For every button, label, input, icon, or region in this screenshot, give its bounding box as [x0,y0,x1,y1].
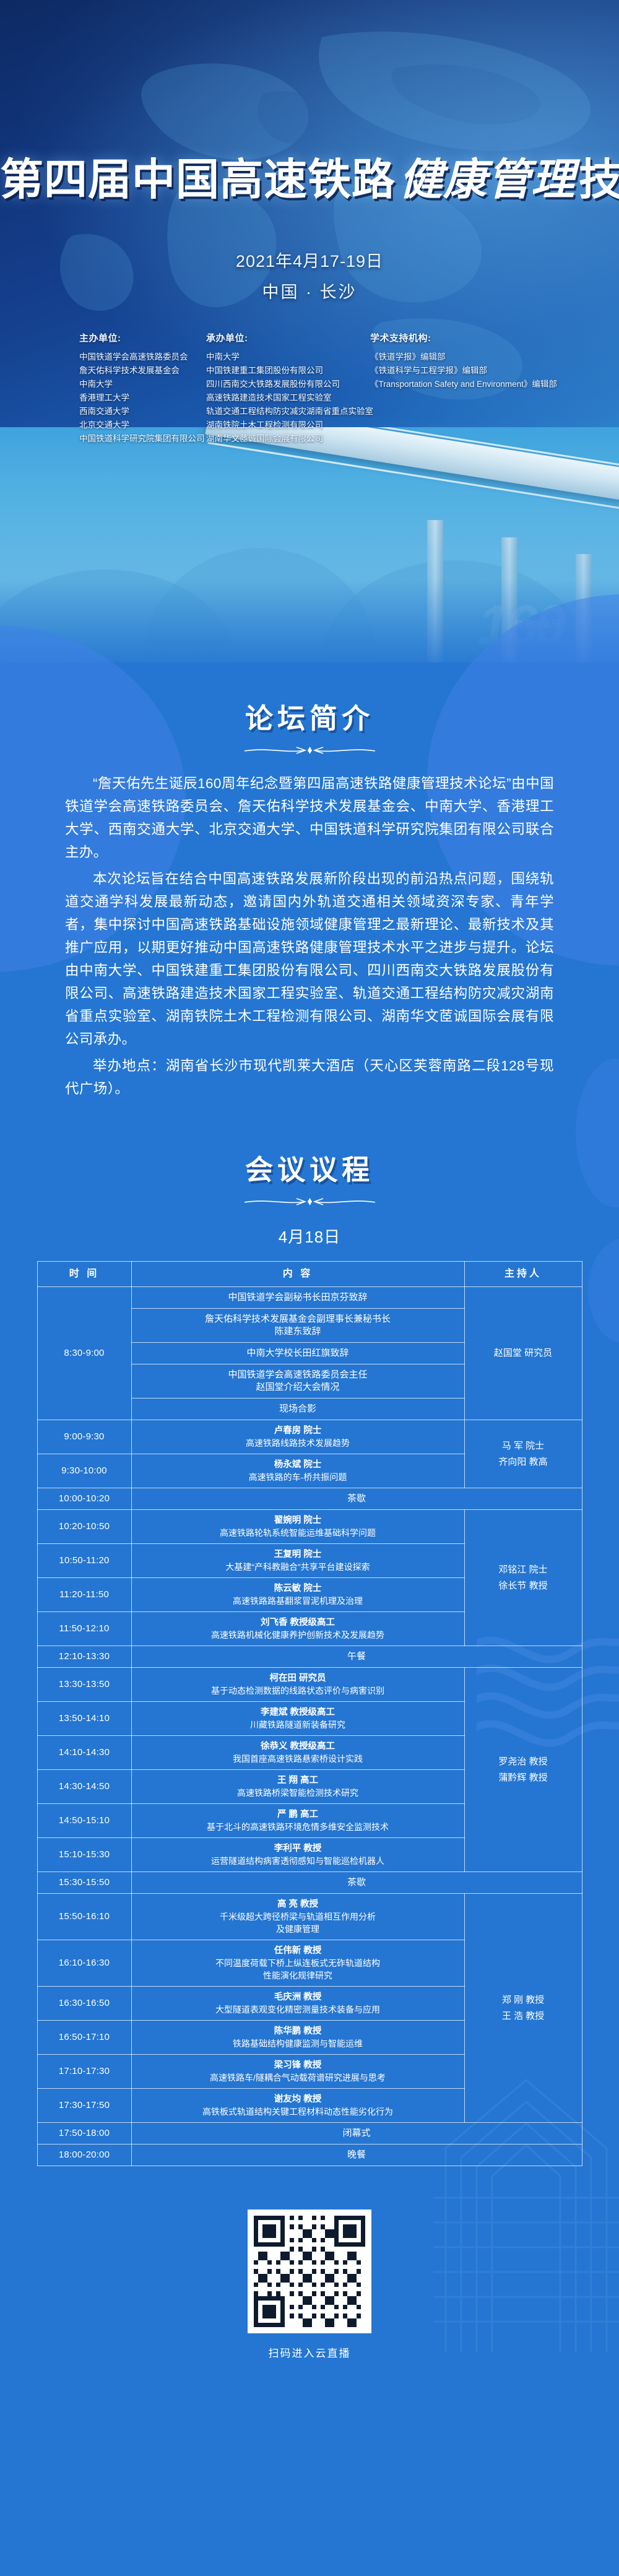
cell-content: 晚餐 [131,2144,582,2166]
organizer-item: 《Transportation Safety and Environment》编… [370,378,557,391]
table-row: 15:50-16:10高 亮 教授千米级超大跨径桥梁与轨道相互作用分析及健康管理… [37,1894,582,1940]
organizer-item: 湖南华文茝诚国际会展有限公司 [206,432,370,446]
poster-body: 论坛简介 “詹天佑先生诞辰160周年纪念暨第四届高速铁路健康管理技术论坛”由中国… [0,662,619,2397]
event-date: 2021年4月17-19日 [0,248,619,272]
intro-text: “詹天佑先生诞辰160周年纪念暨第四届高速铁路健康管理技术论坛”由中国铁道学会高… [65,772,554,1100]
event-city: 中国 · 长沙 [0,279,619,303]
organizer-heading: 承办单位: [206,331,370,344]
talk-title: 高速铁路机械化健康养护创新技术及发展趋势 [136,1629,461,1641]
organizer-item: 轨道交通工程结构防灾减灾湖南省重点实验室 [206,405,370,418]
talk-title: 大基建“产科教融合”共享平台建设探索 [136,1561,461,1573]
talk-title: 运营隧道结构病害透彻感知与智能巡检机器人 [136,1855,461,1867]
cell-content: 李利平 教授运营隧道结构病害透彻感知与智能巡检机器人 [131,1838,464,1872]
ornament-divider [243,745,376,756]
anniversary-caption: 詹天佑诞辰 [514,617,560,630]
page-title: 第四届中国高速铁路健康管理技术论坛 [0,158,619,201]
cell-host: 邓铭江 院士徐长节 教授 [464,1510,582,1646]
organizer-item: 《铁道科学与工程学报》编辑部 [370,364,557,378]
cell-content: 李建斌 教授级高工川藏铁路隧道新装备研究 [131,1702,464,1736]
conference-poster: 160 詹天佑诞辰 第四届中国高速铁路健康管理技术论坛 2021年4月17-19… [0,0,619,2576]
organizer-item: 中南大学 [79,378,206,391]
ornament-divider [243,1196,376,1207]
cell-time: 9:00-9:30 [37,1420,131,1454]
cell-content: 茶歇 [131,1488,582,1510]
cell-time: 13:30-13:50 [37,1668,131,1702]
cell-content: 中南大学校长田红旗致辞 [131,1343,464,1364]
cell-content: 詹天佑科学技术发展基金会副理事长兼秘书长陈建东致辞 [131,1309,464,1343]
background-blob [588,1238,619,1343]
cell-content: 翟婉明 院士高速铁路轮轨系统智能运维基础科学问题 [131,1510,464,1544]
speaker-name: 柯在田 研究员 [136,1672,461,1685]
cell-time: 11:20-11:50 [37,1578,131,1612]
talk-title: 川藏铁路隧道新装备研究 [136,1719,461,1731]
cell-time: 17:30-17:50 [37,2089,131,2123]
table-row: 9:00-9:30卢春房 院士高速铁路线路技术发展趋势马 军 院士齐向阳 教高 [37,1420,582,1454]
speaker-name: 李利平 教授 [136,1842,461,1855]
cell-time: 14:50-15:10 [37,1804,131,1838]
talk-title: 高速铁路桥梁智能检测技术研究 [136,1787,461,1799]
talk-title: 高速铁路路基翻浆冒泥机理及治理 [136,1595,461,1607]
cell-time: 16:30-16:50 [37,1987,131,2021]
organizer-item: 四川西南交大铁路发展股份有限公司 [206,378,370,391]
organizer-heading: 学术支持机构: [370,331,557,344]
organizer-column-academic-support: 学术支持机构: 《铁道学报》编辑部 《铁道科学与工程学报》编辑部 《Transp… [370,331,557,446]
organizer-columns: 主办单位: 中国铁道学会高速铁路委员会 詹天佑科学技术发展基金会 中南大学 香港… [79,331,582,446]
organizer-item: 中国铁道科学研究院集团有限公司 [79,432,206,446]
cell-time: 16:50-17:10 [37,2021,131,2055]
agenda-section-header: 会议议程 [0,1104,619,1207]
organizer-item: 北京交通大学 [79,418,206,432]
intro-section-header: 论坛简介 [0,662,619,756]
speaker-name: 陈云敏 院士 [136,1582,461,1595]
cell-content: 高 亮 教授千米级超大跨径桥梁与轨道相互作用分析及健康管理 [131,1894,464,1940]
intro-paragraph: 举办地点：湖南省长沙市现代凯莱大酒店（天心区芙蓉南路二段128号现代广场）。 [65,1054,554,1100]
talk-title: 基于北斗的高速铁路环境危情多维安全监测技术 [136,1821,461,1833]
section-title-intro: 论坛简介 [245,696,374,736]
cell-content: 刘飞香 教授级高工高速铁路机械化健康养护创新技术及发展趋势 [131,1612,464,1646]
cell-time: 15:30-15:50 [37,1872,131,1894]
organizer-heading: 主办单位: [79,331,206,344]
organizer-item: 湖南铁院土木工程检测有限公司 [206,418,370,432]
organizer-item: 詹天佑科学技术发展基金会 [79,364,206,378]
qr-caption: 扫码进入云直播 [0,2344,619,2360]
table-row: 10:20-10:50翟婉明 院士高速铁路轮轨系统智能运维基础科学问题邓铭江 院… [37,1510,582,1544]
hero-banner: 160 詹天佑诞辰 第四届中国高速铁路健康管理技术论坛 2021年4月17-19… [0,0,619,662]
talk-title: 高速铁路车/隧耦合气动载荷谱研究进展与思考 [136,2071,461,2084]
cell-content: 陈云敏 院士高速铁路路基翻浆冒泥机理及治理 [131,1578,464,1612]
qr-section: 扫码进入云直播 [0,2210,619,2360]
table-row: 10:00-10:20茶歇 [37,1488,582,1510]
intro-paragraph: “詹天佑先生诞辰160周年纪念暨第四届高速铁路健康管理技术论坛”由中国铁道学会高… [65,772,554,864]
agenda-table: 时 间 内 容 主持人 8:30-9:00中国铁道学会副秘书长田京芬致辞赵国堂 … [37,1261,582,2166]
talk-title: 基于动态检测数据的线路状态评价与病害识别 [136,1685,461,1697]
bridge-photo: 160 詹天佑诞辰 [0,427,619,662]
talk-title: 我国首座高速铁路悬索桥设计实践 [136,1753,461,1765]
cell-content: 陈华鹏 教授铁路基础结构健康监测与智能运维 [131,2021,464,2055]
cell-content: 茶歇 [131,1872,582,1894]
title-part-1: 第四届中国高速铁路 [0,155,396,204]
talk-title: 高速铁路轮轨系统智能运维基础科学问题 [136,1527,461,1539]
cell-content: 徐恭义 教授级高工我国首座高速铁路悬索桥设计实践 [131,1736,464,1770]
cell-content: 现场合影 [131,1399,464,1420]
agenda-day-label: 4月18日 [0,1225,619,1247]
cell-content: 梁习锋 教授高速铁路车/隧耦合气动载荷谱研究进展与思考 [131,2055,464,2089]
organizer-item: 中国铁道学会高速铁路委员会 [79,350,206,364]
cell-time: 15:10-15:30 [37,1838,131,1872]
talk-title: 不同温度荷载下桥上纵连板式无砟轨道结构性能演化规律研究 [136,1957,461,1982]
qr-code[interactable] [248,2210,371,2333]
speaker-name: 梁习锋 教授 [136,2059,461,2071]
speaker-name: 谢友均 教授 [136,2093,461,2105]
cell-time: 15:50-16:10 [37,1894,131,1940]
section-title-agenda: 会议议程 [245,1147,374,1187]
speaker-name: 严 鹏 高工 [136,1808,461,1821]
speaker-name: 翟婉明 院士 [136,1514,461,1527]
speaker-name: 李建斌 教授级高工 [136,1706,461,1719]
table-header-row: 时 间 内 容 主持人 [37,1262,582,1287]
speaker-name: 卢春房 院士 [136,1425,461,1437]
table-row: 15:30-15:50茶歇 [37,1872,582,1894]
organizer-item: 香港理工大学 [79,391,206,405]
organizer-item: 中国铁建重工集团股份有限公司 [206,364,370,378]
cell-time: 14:30-14:50 [37,1770,131,1804]
table-row: 17:50-18:00闭幕式 [37,2123,582,2144]
organizer-item: 中南大学 [206,350,370,364]
cell-time: 17:10-17:30 [37,2055,131,2089]
talk-title: 高速铁路线路技术发展趋势 [136,1437,461,1449]
cell-content: 卢春房 院士高速铁路线路技术发展趋势 [131,1420,464,1454]
cell-content: 谢友均 教授高铁板式轨道结构关键工程材料动态性能劣化行为 [131,2089,464,2123]
table-row: 8:30-9:00中国铁道学会副秘书长田京芬致辞赵国堂 研究员 [37,1287,582,1309]
cell-content: 柯在田 研究员基于动态检测数据的线路状态评价与病害识别 [131,1668,464,1702]
column-header-time: 时 间 [37,1262,131,1287]
talk-title: 千米级超大跨径桥梁与轨道相互作用分析及健康管理 [136,1910,461,1935]
organizer-column-host: 主办单位: 中国铁道学会高速铁路委员会 詹天佑科学技术发展基金会 中南大学 香港… [79,331,206,446]
table-row: 12:10-13:30午餐 [37,1646,582,1668]
talk-title: 大型隧道表观变化精密测量技术装备与应用 [136,2003,461,2016]
speaker-name: 刘飞香 教授级高工 [136,1616,461,1629]
cell-time: 17:50-18:00 [37,2123,131,2144]
organizer-column-coorganizer: 承办单位: 中南大学 中国铁建重工集团股份有限公司 四川西南交大铁路发展股份有限… [206,331,370,446]
column-header-host: 主持人 [464,1262,582,1287]
cell-content: 中国铁道学会副秘书长田京芬致辞 [131,1287,464,1309]
table-row: 18:00-20:00晚餐 [37,2144,582,2166]
cell-host: 马 军 院士齐向阳 教高 [464,1420,582,1488]
talk-title: 高铁板式轨道结构关键工程材料动态性能劣化行为 [136,2105,461,2118]
cell-content: 中国铁道学会高速铁路委员会主任赵国堂介绍大会情况 [131,1364,464,1399]
cell-time: 10:50-11:20 [37,1544,131,1578]
cell-content: 王 翔 高工高速铁路桥梁智能检测技术研究 [131,1770,464,1804]
cell-content: 杨永斌 院士高速铁路的车-桥共振问题 [131,1454,464,1488]
cell-time: 16:10-16:30 [37,1940,131,1987]
speaker-name: 陈华鹏 教授 [136,2025,461,2037]
cell-time: 8:30-9:00 [37,1287,131,1420]
talk-title: 铁路基础结构健康监测与智能运维 [136,2037,461,2050]
column-header-content: 内 容 [131,1262,464,1287]
title-script-part: 健康管理 [396,154,579,205]
cell-content: 午餐 [131,1646,582,1668]
cell-host: 赵国堂 研究员 [464,1287,582,1420]
cell-time: 11:50-12:10 [37,1612,131,1646]
speaker-name: 任伟新 教授 [136,1945,461,1957]
cell-host: 郑 刚 教授王 浩 教授 [464,1894,582,2123]
speaker-name: 王复明 院士 [136,1548,461,1561]
cell-content: 严 鹏 高工基于北斗的高速铁路环境危情多维安全监测技术 [131,1804,464,1838]
cell-time: 18:00-20:00 [37,2144,131,2166]
title-part-2: 技术论坛 [579,155,619,204]
cell-time: 9:30-10:00 [37,1454,131,1488]
cell-time: 13:50-14:10 [37,1702,131,1736]
cell-content: 毛庆洲 教授大型隧道表观变化精密测量技术装备与应用 [131,1987,464,2021]
speaker-name: 高 亮 教授 [136,1898,461,1910]
cell-time: 12:10-13:30 [37,1646,131,1668]
cell-content: 任伟新 教授不同温度荷载下桥上纵连板式无砟轨道结构性能演化规律研究 [131,1940,464,1987]
speaker-name: 杨永斌 院士 [136,1459,461,1471]
speaker-name: 王 翔 高工 [136,1774,461,1787]
speaker-name: 毛庆洲 教授 [136,1991,461,2003]
organizer-item: 《铁道学报》编辑部 [370,350,557,364]
cell-time: 14:10-14:30 [37,1736,131,1770]
organizer-item: 高速铁路建造技术国家工程实验室 [206,391,370,405]
speaker-name: 徐恭义 教授级高工 [136,1740,461,1753]
cell-content: 王复明 院士大基建“产科教融合”共享平台建设探索 [131,1544,464,1578]
table-row: 13:30-13:50柯在田 研究员基于动态检测数据的线路状态评价与病害识别罗尧… [37,1668,582,1702]
cell-host: 罗尧治 教授蒲黔辉 教授 [464,1668,582,1872]
cell-content: 闭幕式 [131,2123,582,2144]
cell-time: 10:20-10:50 [37,1510,131,1544]
intro-paragraph: 本次论坛旨在结合中国高速铁路发展新阶段出现的前沿热点问题，围绕轨道交通学科发展最… [65,867,554,1051]
cell-time: 10:00-10:20 [37,1488,131,1510]
organizer-item: 西南交通大学 [79,405,206,418]
talk-title: 高速铁路的车-桥共振问题 [136,1471,461,1483]
